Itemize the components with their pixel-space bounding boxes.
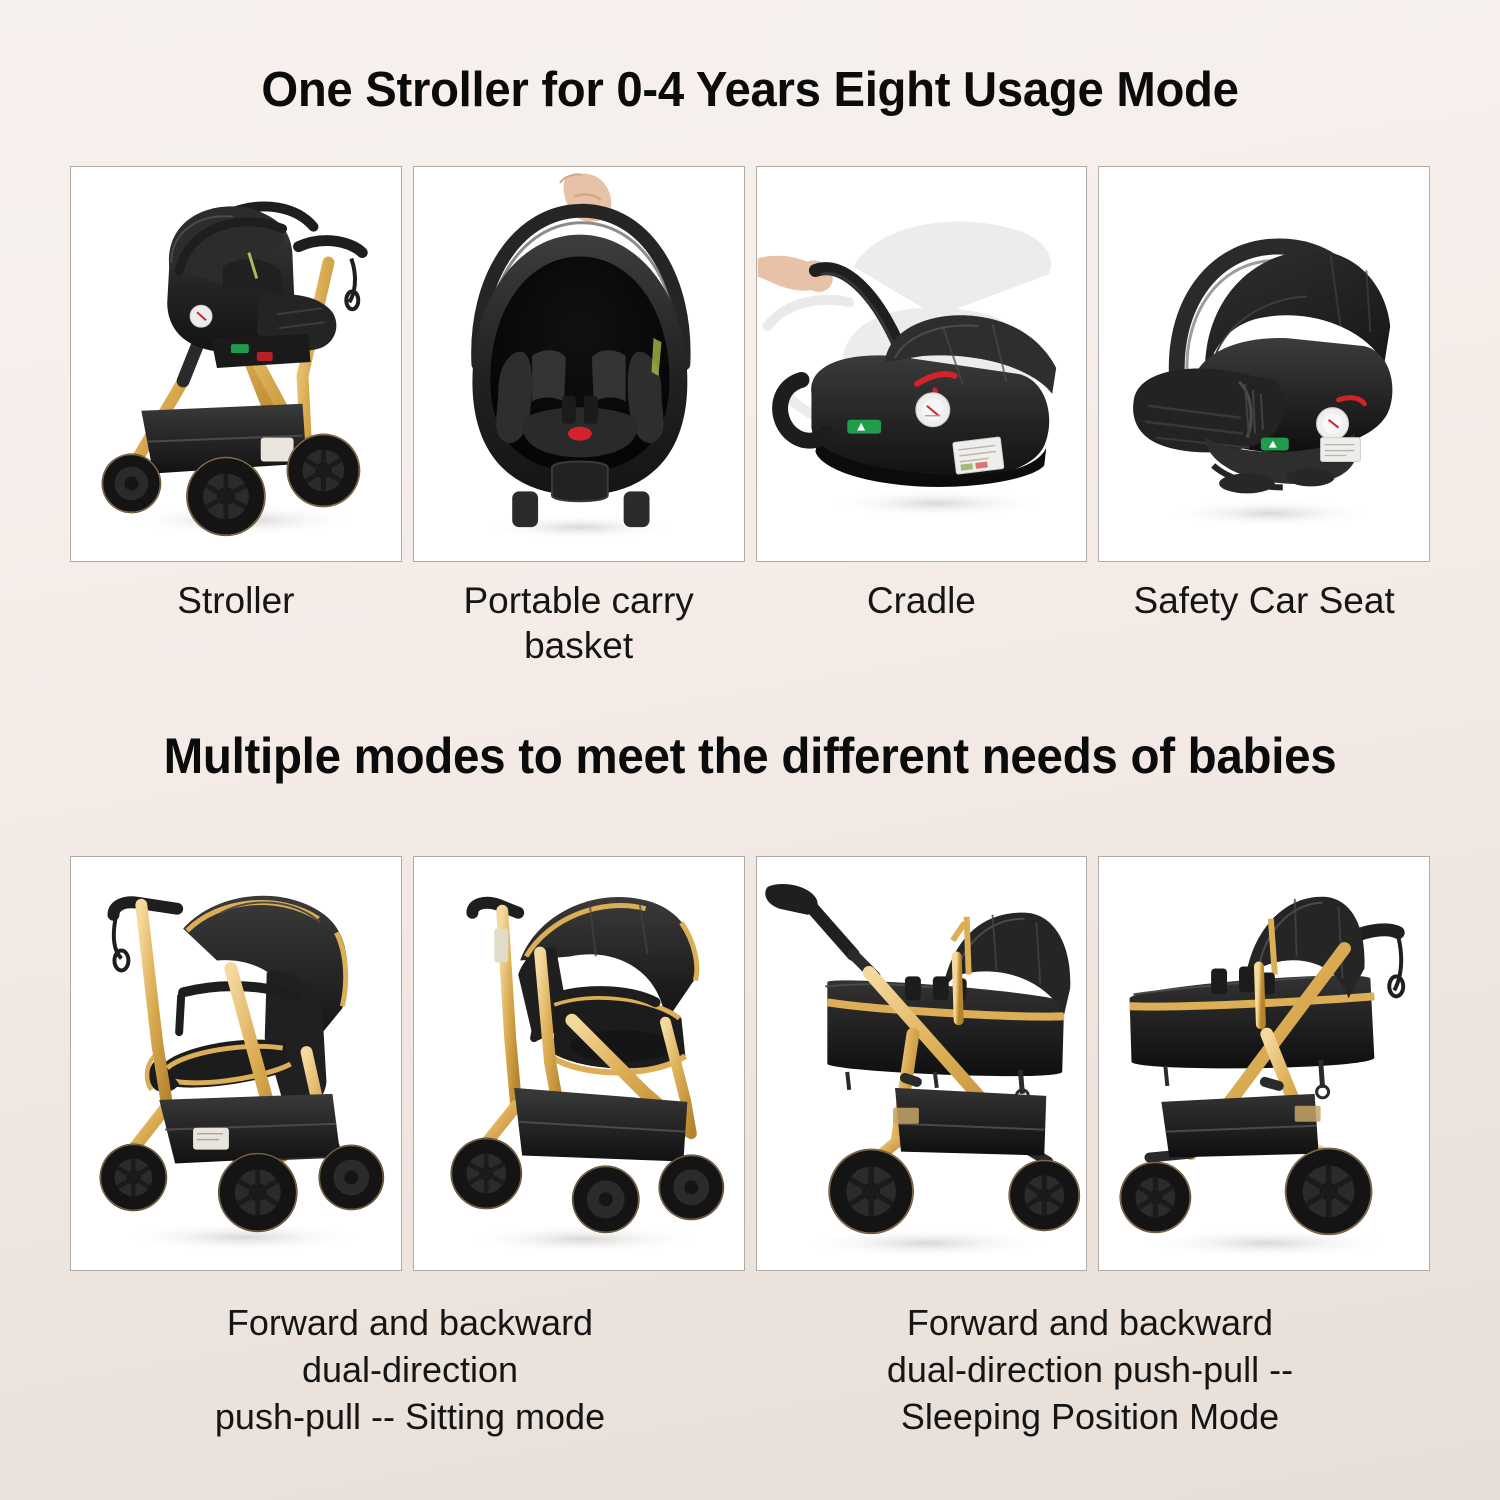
caption-sleeping-mode: Forward and backward dual-direction push… (750, 1300, 1430, 1440)
infographic-page: One Stroller for 0-4 Years Eight Usage M… (0, 0, 1500, 1500)
car-seat-illustration (1099, 167, 1429, 561)
caption-sitting-mode: Forward and backward dual-direction push… (70, 1300, 750, 1440)
product-image-portable-carry-basket[interactable] (413, 166, 745, 562)
stroller-illustration (71, 167, 401, 561)
stroller-bassinet-forward-illustration (757, 857, 1087, 1270)
cradle-illustration (757, 167, 1087, 561)
multiple-modes-image-grid (70, 856, 1430, 1271)
product-image-sleeping-backward[interactable] (1098, 856, 1430, 1271)
caption-cradle: Cradle (756, 578, 1088, 668)
product-image-stroller[interactable] (70, 166, 402, 562)
usage-modes-image-grid (70, 166, 1430, 562)
product-image-safety-car-seat[interactable] (1098, 166, 1430, 562)
stroller-bassinet-reverse-illustration (1099, 857, 1429, 1270)
stroller-seat-forward-illustration (71, 857, 401, 1270)
caption-portable-carry-basket: Portable carry basket (413, 578, 745, 668)
product-image-sleeping-forward[interactable] (756, 856, 1088, 1271)
product-image-sitting-forward[interactable] (70, 856, 402, 1271)
product-image-sitting-backward[interactable] (413, 856, 745, 1271)
caption-safety-car-seat: Safety Car Seat (1098, 578, 1430, 668)
page-title-multiple-modes: Multiple modes to meet the different nee… (38, 727, 1463, 785)
product-image-cradle[interactable] (756, 166, 1088, 562)
carry-basket-illustration (414, 167, 744, 561)
caption-stroller: Stroller (70, 578, 402, 668)
usage-modes-captions: Stroller Portable carry basket Cradle Sa… (70, 578, 1430, 668)
stroller-seat-reverse-illustration (414, 857, 744, 1270)
multiple-modes-captions: Forward and backward dual-direction push… (70, 1300, 1430, 1440)
page-title-usage-modes: One Stroller for 0-4 Years Eight Usage M… (26, 62, 1474, 118)
